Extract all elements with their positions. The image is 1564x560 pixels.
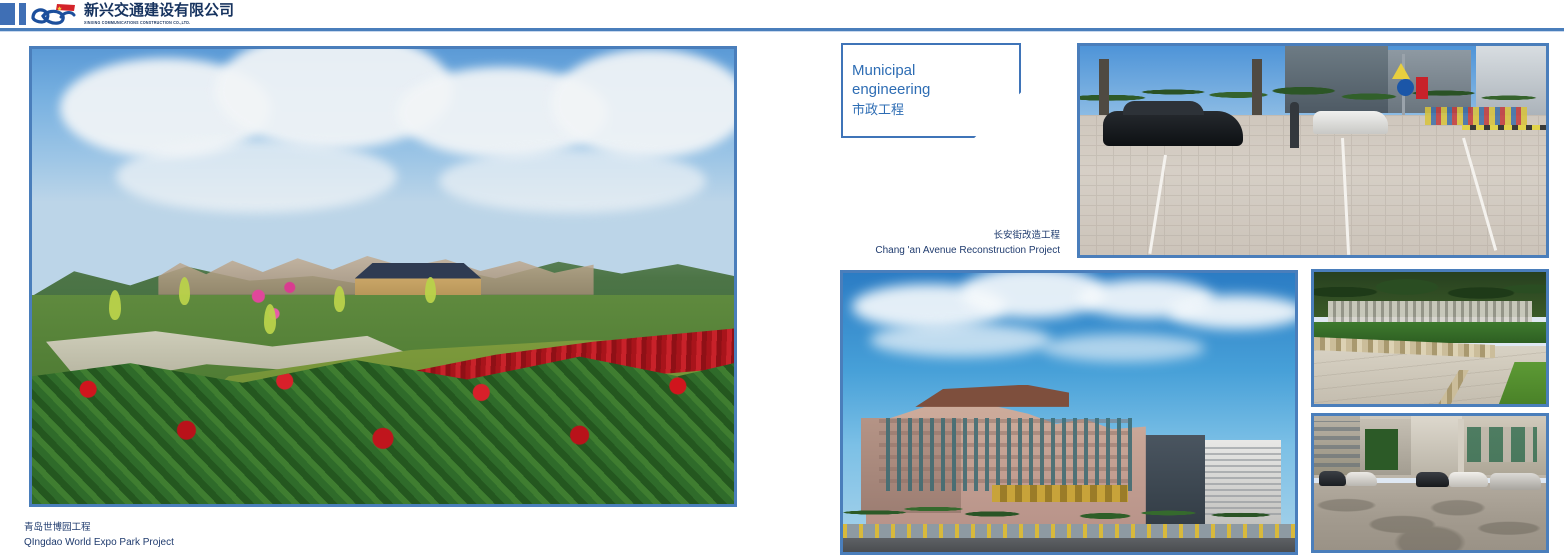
cloud-shape bbox=[116, 140, 397, 213]
cloud-shape bbox=[870, 323, 1051, 356]
cloud-shape bbox=[1168, 295, 1295, 328]
pedestrian bbox=[1290, 102, 1299, 148]
red-flag bbox=[1416, 77, 1428, 99]
garden-sculpture bbox=[334, 286, 345, 312]
photo-qingdao-expo-park bbox=[29, 46, 737, 507]
caption-cn: 长安街改造工程 bbox=[760, 229, 1060, 243]
callout-title-line1: Municipal bbox=[852, 61, 1012, 80]
storefront-panels bbox=[1467, 427, 1537, 462]
page-header: 新兴交通建设有限公司 XINXING COMMUNICATIONS CONSTR… bbox=[0, 0, 1564, 31]
company-logotype: 新兴交通建设有限公司 XINXING COMMUNICATIONS CONSTR… bbox=[84, 2, 234, 25]
parked-car bbox=[1319, 471, 1347, 486]
company-swoosh-logo bbox=[31, 4, 79, 27]
company-name-en: XINXING COMMUNICATIONS CONSTRUCTION CO.,… bbox=[84, 19, 234, 27]
building-windows bbox=[1314, 421, 1360, 472]
site-fence bbox=[1328, 301, 1532, 322]
garden-sculpture bbox=[264, 304, 276, 334]
caption-en: Chang 'an Avenue Reconstruction Project bbox=[760, 243, 1060, 258]
street-tree bbox=[1365, 429, 1397, 469]
photo-content-street bbox=[1314, 416, 1546, 550]
photo-landscaped-walkway bbox=[1311, 269, 1549, 407]
photo-municipal-building bbox=[840, 270, 1298, 555]
photo-content-walkway bbox=[1314, 272, 1546, 404]
callout-title-line2: engineering bbox=[852, 80, 1012, 99]
parked-white-car bbox=[1313, 111, 1388, 134]
parked-car bbox=[1346, 472, 1376, 486]
cloud-shape bbox=[439, 149, 706, 213]
photo-content-expo bbox=[32, 49, 734, 504]
caption-cn: 青岛世博园工程 bbox=[24, 521, 174, 535]
roadway bbox=[843, 538, 1295, 552]
facade-windows bbox=[879, 418, 1132, 491]
caption-changan-avenue: 长安街改造工程 Chang 'an Avenue Reconstruction … bbox=[760, 229, 1060, 258]
municipal-engineering-callout-text: Municipal engineering 市政工程 bbox=[852, 61, 1012, 120]
company-name-cn: 新兴交通建设有限公司 bbox=[84, 2, 234, 19]
cloud-shape bbox=[551, 49, 734, 158]
tree-shadows bbox=[1314, 486, 1546, 550]
header-divider-rule-thin bbox=[0, 31, 1564, 32]
photo-content-changan bbox=[1080, 46, 1546, 255]
china-flag-icon bbox=[56, 4, 75, 11]
photo-street-parking bbox=[1311, 413, 1549, 553]
cloud-shape bbox=[1042, 334, 1205, 362]
photo-content-building bbox=[843, 273, 1295, 552]
header-accent-bar-wide bbox=[0, 3, 15, 25]
photo-changan-avenue bbox=[1077, 43, 1549, 258]
parked-black-car bbox=[1103, 111, 1243, 147]
parked-bicycles bbox=[1425, 107, 1528, 126]
caption-qingdao-expo: 青岛世博园工程 QIngdao World Expo Park Project bbox=[24, 521, 174, 550]
header-accent-bar-narrow bbox=[19, 3, 26, 25]
yield-sign-icon bbox=[1392, 63, 1410, 79]
pink-flower-sculpture bbox=[229, 267, 327, 340]
painted-curb bbox=[1462, 125, 1546, 130]
caption-en: QIngdao World Expo Park Project bbox=[24, 535, 174, 550]
callout-title-cn: 市政工程 bbox=[852, 101, 1012, 120]
